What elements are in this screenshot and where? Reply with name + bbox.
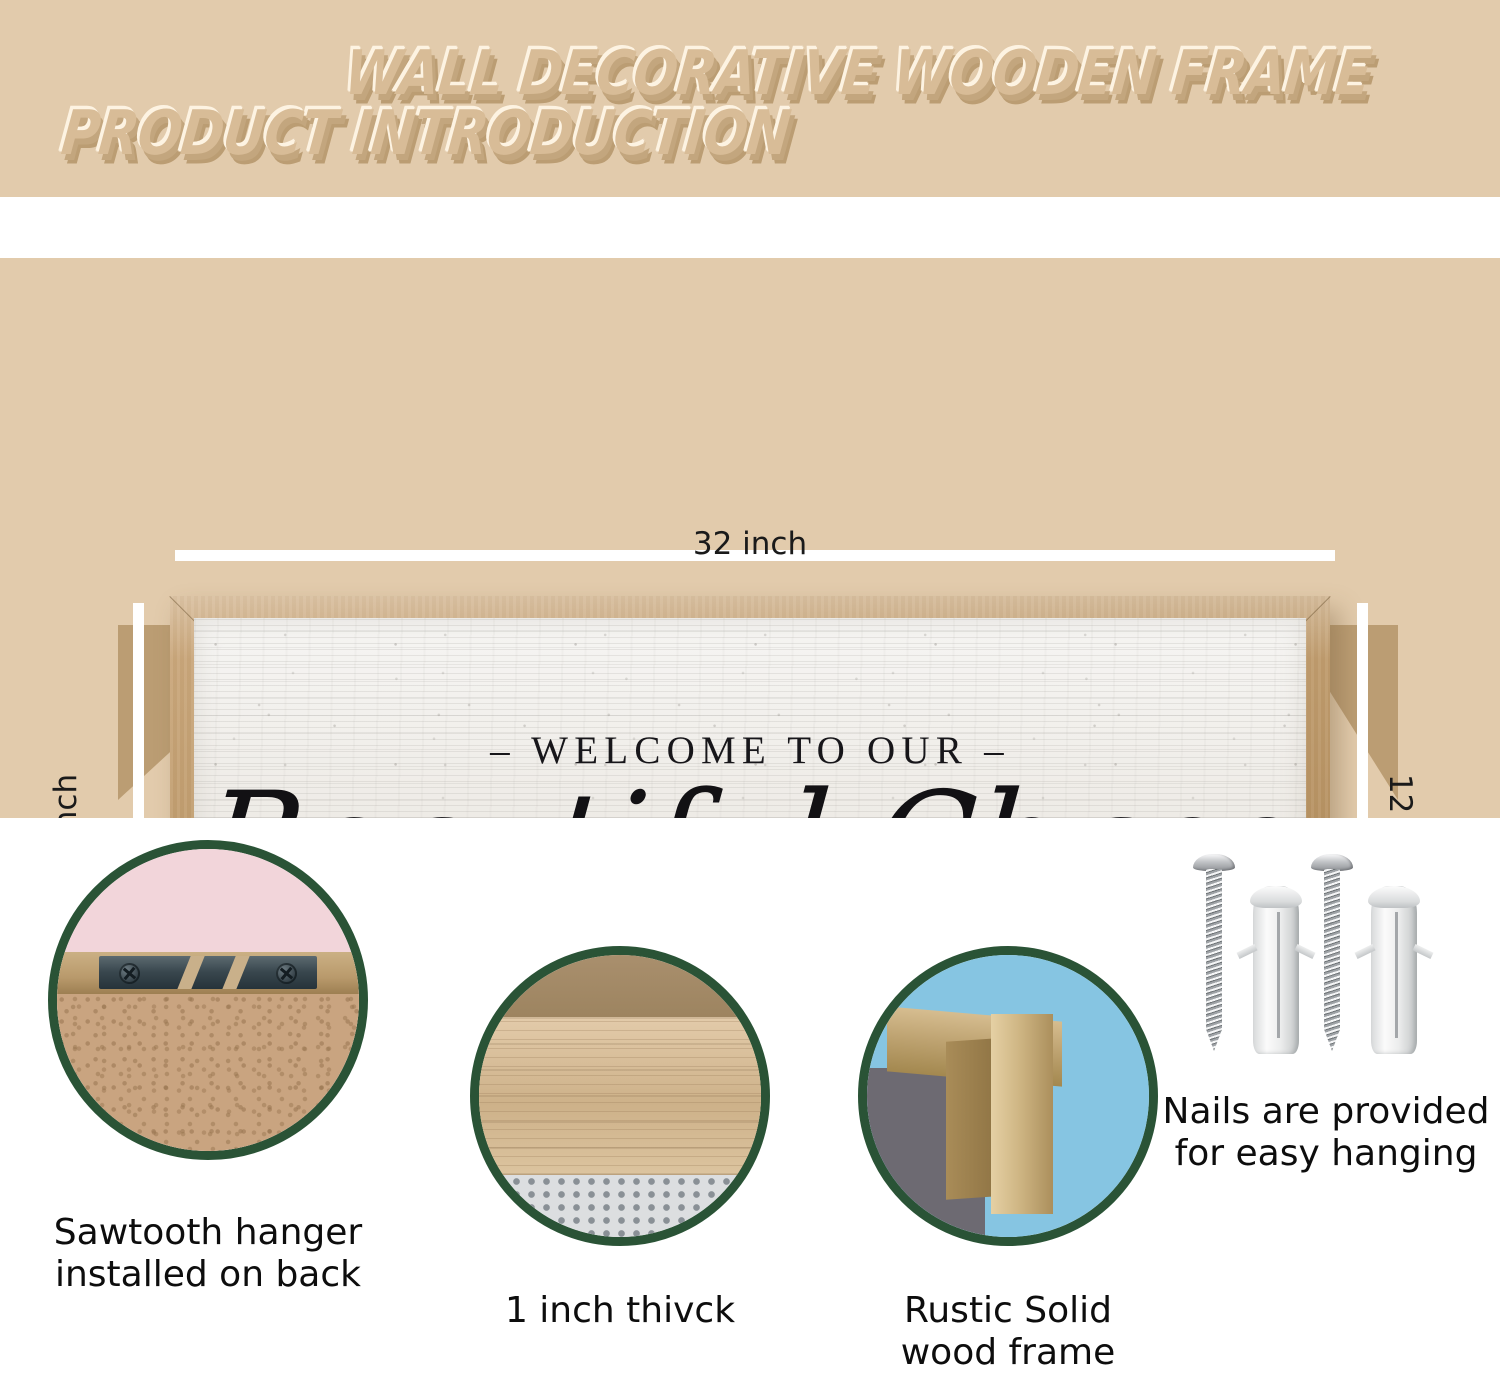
feature-caption-rustic-wood-frame: Rustic Solid wood frame [818, 1290, 1198, 1374]
wall-anchor-collar-1 [1250, 886, 1302, 908]
screw-shaft-2 [1324, 869, 1340, 1051]
mounting-hardware-illustration [1181, 854, 1471, 1069]
height-dimension-label-left: 12 inch [48, 761, 84, 818]
thickness-mesh-surface [479, 1175, 761, 1237]
screw-icon-2 [1317, 854, 1347, 1054]
header-banner: WALL DECORATIVE WOODEN FRAME PRODUCT INT… [0, 0, 1500, 197]
feature-sawtooth-hanger: Sawtooth hanger installed on back [18, 840, 398, 1296]
feature-caption-sawtooth-hanger: Sawtooth hanger installed on back [18, 1212, 398, 1296]
wall-anchor-collar-2 [1368, 886, 1420, 908]
rustic-frame-photo [858, 946, 1158, 1246]
feature-highlights: Sawtooth hanger installed on back 1 inch… [0, 818, 1500, 1395]
hanger-screw-right-icon [276, 963, 297, 984]
feature-rustic-wood-frame: Rustic Solid wood frame [818, 946, 1198, 1374]
screw-head-2 [1311, 854, 1353, 871]
band-divider [0, 197, 1500, 258]
sawtooth-hanger-photo [48, 840, 368, 1160]
screw-icon-1 [1199, 854, 1229, 1054]
product-showcase-panel: 32 inch 12 inch 12 inch – WELCOME TO OUR… [0, 258, 1500, 818]
hanger-screw-left-icon [119, 963, 140, 984]
screw-head-1 [1193, 854, 1235, 871]
framed-sign: – WELCOME TO OUR – Beautiful Chaos [170, 596, 1330, 818]
height-dimension-line-left [133, 603, 144, 818]
wall-anchor-slot-1 [1277, 912, 1280, 1038]
frame-corner-vertical-arm [991, 1014, 1053, 1214]
sign-script-text: Beautiful Chaos [200, 773, 1300, 818]
frame-corner-inner-face [946, 1038, 997, 1199]
width-dimension-label: 32 inch [0, 526, 1500, 562]
wall-anchor-icon-1 [1253, 886, 1299, 1054]
hanger-cork-surface [57, 994, 359, 1151]
sawtooth-hanger-bracket-icon [99, 956, 316, 989]
sign-board: – WELCOME TO OUR – Beautiful Chaos [194, 618, 1306, 818]
feature-caption-thickness: 1 inch thivck [430, 1290, 810, 1332]
wall-anchor-icon-2 [1371, 886, 1417, 1054]
thickness-photo [470, 946, 770, 1246]
feature-thickness: 1 inch thivck [430, 946, 810, 1332]
thickness-wood-edge [479, 1017, 761, 1175]
feature-nails-provided: Nails are provided for easy hanging [1152, 840, 1500, 1175]
height-dimension-line-right [1357, 603, 1368, 818]
header-title-line-2: PRODUCT INTRODUCTION [58, 99, 793, 170]
height-dimension-label-right: 12 inch [1382, 761, 1418, 818]
feature-caption-nails-provided: Nails are provided for easy hanging [1152, 1091, 1500, 1175]
screw-shaft-1 [1206, 869, 1222, 1051]
thickness-upper-wood [479, 955, 761, 1017]
wall-anchor-slot-2 [1395, 912, 1398, 1038]
